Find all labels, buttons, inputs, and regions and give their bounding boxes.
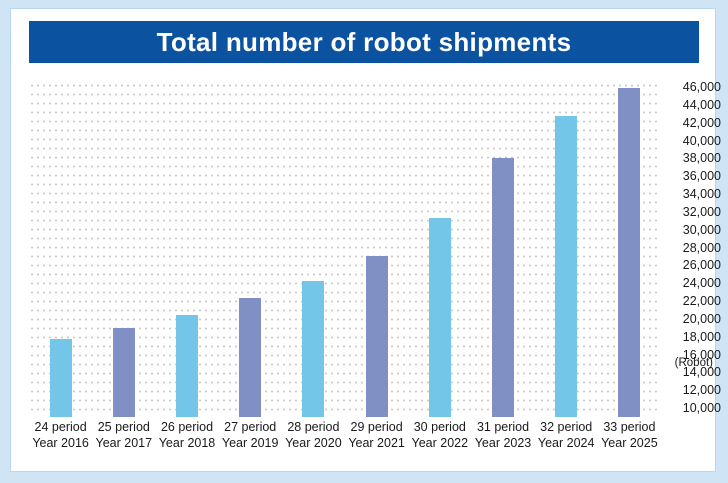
bar — [555, 116, 577, 417]
y-axis-tick-label: 40,000 — [665, 134, 721, 148]
y-axis-tick-label: 30,000 — [665, 223, 721, 237]
bar — [113, 328, 135, 417]
x-axis-tick-line: 31 period — [471, 419, 535, 435]
x-axis-tick-line: Year 2018 — [155, 435, 219, 451]
y-axis-unit-label: (Robot) — [675, 357, 713, 369]
y-axis-tick-label: 46,000 — [665, 80, 721, 94]
y-axis-tick-label: 38,000 — [665, 151, 721, 165]
bar — [50, 339, 72, 417]
y-axis-tick-label: 20,000 — [665, 312, 721, 326]
x-axis-tick-label: 25 periodYear 2017 — [92, 419, 156, 451]
bar — [239, 298, 261, 418]
bars-layer — [29, 79, 661, 417]
y-axis-tick-label: 28,000 — [665, 241, 721, 255]
x-axis-tick-line: Year 2016 — [29, 435, 93, 451]
x-axis-tick-line: Year 2022 — [408, 435, 472, 451]
y-axis-tick-label: 36,000 — [665, 169, 721, 183]
x-axis-tick-label: 32 periodYear 2024 — [534, 419, 598, 451]
x-axis-tick-line: 25 period — [92, 419, 156, 435]
page-title: Total number of robot shipments — [157, 27, 572, 58]
chart-title-bar: Total number of robot shipments — [29, 21, 699, 63]
bar — [618, 88, 640, 417]
x-axis-tick-line: Year 2017 — [92, 435, 156, 451]
x-axis-tick-line: 30 period — [408, 419, 472, 435]
y-axis-tick-label: 24,000 — [665, 276, 721, 290]
bar — [429, 218, 451, 417]
x-axis-tick-label: 31 periodYear 2023 — [471, 419, 535, 451]
y-axis-tick-label: 44,000 — [665, 98, 721, 112]
x-axis-tick-label: 29 periodYear 2021 — [345, 419, 409, 451]
y-axis-tick-label: 18,000 — [665, 330, 721, 344]
y-axis-tick-label: 32,000 — [665, 205, 721, 219]
x-axis-tick-line: 33 period — [597, 419, 661, 435]
x-axis-tick-label: 33 periodYear 2025 — [597, 419, 661, 451]
x-axis-tick-line: 24 period — [29, 419, 93, 435]
x-axis-tick-label: 24 periodYear 2016 — [29, 419, 93, 451]
y-axis-tick-label: 42,000 — [665, 116, 721, 130]
plot-area — [29, 79, 661, 417]
x-axis-tick-line: 26 period — [155, 419, 219, 435]
bar — [176, 315, 198, 417]
x-axis-tick-line: Year 2021 — [345, 435, 409, 451]
y-axis-tick-label: 34,000 — [665, 187, 721, 201]
y-axis-tick-label: 22,000 — [665, 294, 721, 308]
x-axis-tick-line: 32 period — [534, 419, 598, 435]
x-axis: 24 periodYear 201625 periodYear 201726 p… — [29, 419, 661, 459]
chart-card: Total number of robot shipments 46,00044… — [10, 8, 716, 472]
x-axis-tick-line: 27 period — [218, 419, 282, 435]
y-axis-tick-label: 12,000 — [665, 383, 721, 397]
y-axis-tick-label: 10,000 — [665, 401, 721, 415]
x-axis-tick-label: 26 periodYear 2018 — [155, 419, 219, 451]
x-axis-tick-line: Year 2024 — [534, 435, 598, 451]
x-axis-tick-line: Year 2020 — [281, 435, 345, 451]
x-axis-tick-line: Year 2019 — [218, 435, 282, 451]
x-axis-tick-line: 28 period — [281, 419, 345, 435]
bar — [492, 158, 514, 417]
x-axis-tick-line: 29 period — [345, 419, 409, 435]
x-axis-tick-label: 28 periodYear 2020 — [281, 419, 345, 451]
x-axis-tick-label: 27 periodYear 2019 — [218, 419, 282, 451]
bar — [366, 256, 388, 417]
x-axis-tick-line: Year 2023 — [471, 435, 535, 451]
x-axis-tick-line: Year 2025 — [597, 435, 661, 451]
bar — [302, 281, 324, 417]
y-axis-tick-label: 26,000 — [665, 258, 721, 272]
x-axis-tick-label: 30 periodYear 2022 — [408, 419, 472, 451]
